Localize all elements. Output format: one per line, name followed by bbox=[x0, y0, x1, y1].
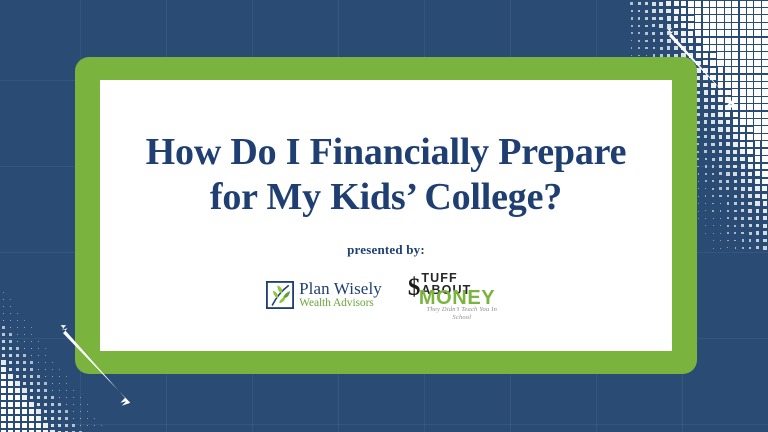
stuff-about-money-line-2: MONEY bbox=[419, 288, 495, 308]
content-card: How Do I Financially Prepare for My Kids… bbox=[100, 80, 672, 351]
title-line-1: How Do I Financially Prepare bbox=[146, 130, 627, 175]
stuff-about-money-tagline: They Didn’t Teach You In School bbox=[420, 306, 504, 322]
card-inner: How Do I Financially Prepare for My Kids… bbox=[100, 80, 672, 351]
stuff-about-money-logo: $ TUFF ABOUT MONEY They Didn’t Teach You… bbox=[408, 270, 506, 320]
title-line-2: for My Kids’ College? bbox=[146, 175, 627, 220]
presentation-slide: How Do I Financially Prepare for My Kids… bbox=[0, 0, 768, 432]
logo-row: Plan Wisely Wealth Advisors $ TUFF ABOUT… bbox=[266, 270, 506, 320]
presented-by-label: presented by: bbox=[347, 242, 425, 258]
page-title: How Do I Financially Prepare for My Kids… bbox=[146, 130, 627, 220]
plan-wisely-wordmark: Plan Wisely Wealth Advisors bbox=[299, 280, 382, 310]
plan-wisely-name: Plan Wisely bbox=[299, 280, 382, 297]
plan-wisely-logo: Plan Wisely Wealth Advisors bbox=[266, 280, 382, 310]
leaf-branch-icon bbox=[266, 281, 294, 309]
plan-wisely-subtitle: Wealth Advisors bbox=[299, 298, 382, 310]
